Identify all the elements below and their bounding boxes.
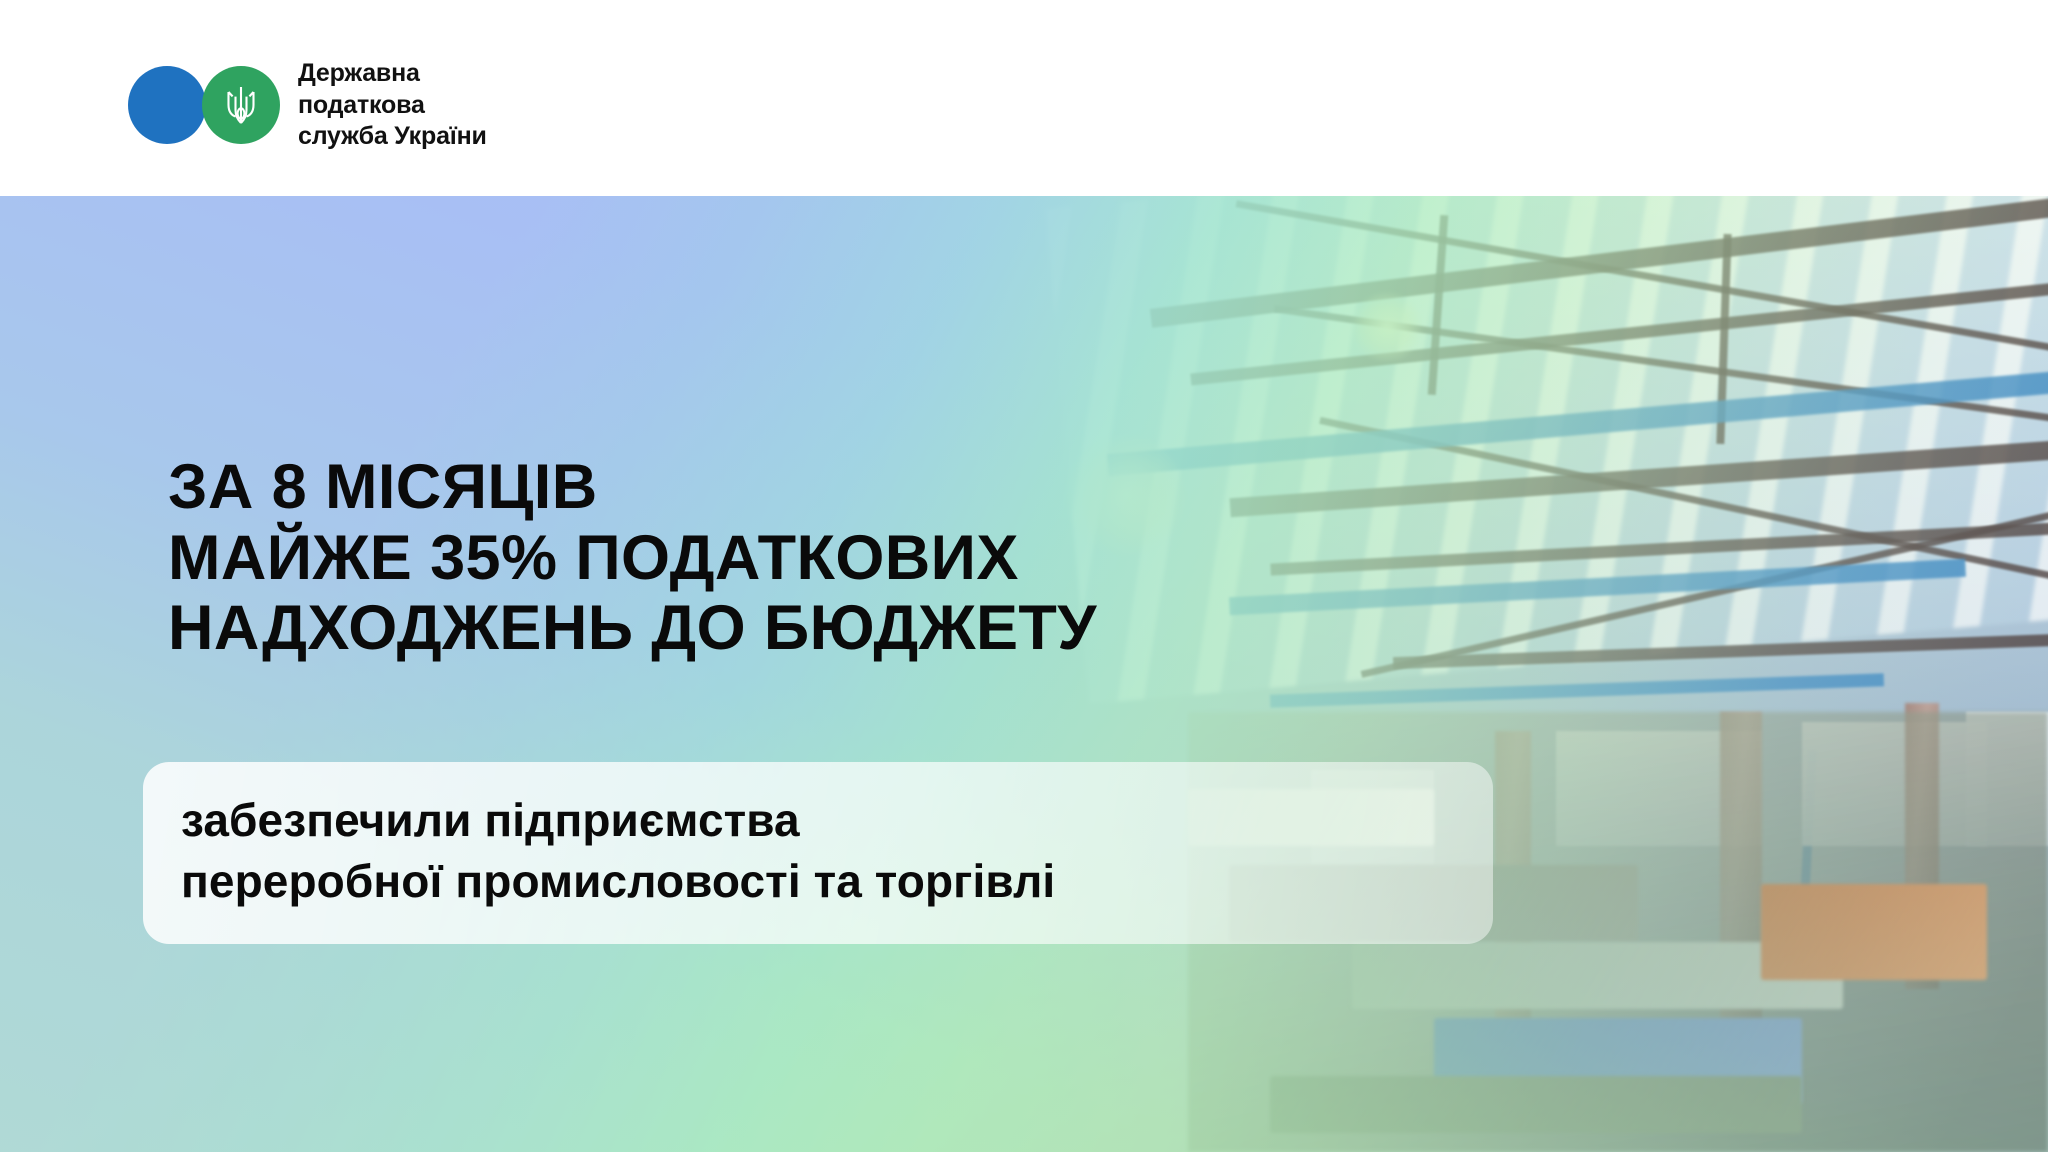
subtitle-line-1: забезпечили підприємства (181, 790, 1453, 851)
subtitle-line-2: переробної промисловості та торгівлі (181, 851, 1453, 912)
subtitle: забезпечили підприємства переробної пром… (181, 790, 1453, 912)
subtitle-card: забезпечили підприємства переробної пром… (143, 762, 1493, 944)
header-bar: Державна податкова служба України (0, 0, 2048, 196)
headline: ЗА 8 МІСЯЦІВ МАЙЖЕ 35% ПОДАТКОВИХ НАДХОД… (168, 452, 1097, 664)
blue-circle-icon (128, 66, 206, 144)
headline-line-3: НАДХОДЖЕНЬ ДО БЮДЖЕТУ (168, 593, 1097, 664)
poster-canvas: Державна податкова служба України ЗА 8 М… (0, 0, 2048, 1152)
headline-line-2: МАЙЖЕ 35% ПОДАТКОВИХ (168, 523, 1097, 594)
organization-name: Державна податкова служба України (298, 58, 487, 153)
headline-line-1: ЗА 8 МІСЯЦІВ (168, 452, 1097, 523)
background-stage (0, 196, 2048, 1152)
ukraine-trident-icon (223, 83, 259, 127)
green-circle-icon (202, 66, 280, 144)
logo-marks (128, 66, 280, 144)
brand-gradient-overlay-bottom (0, 196, 2048, 1152)
organization-logo[interactable]: Державна податкова служба України (128, 58, 487, 153)
